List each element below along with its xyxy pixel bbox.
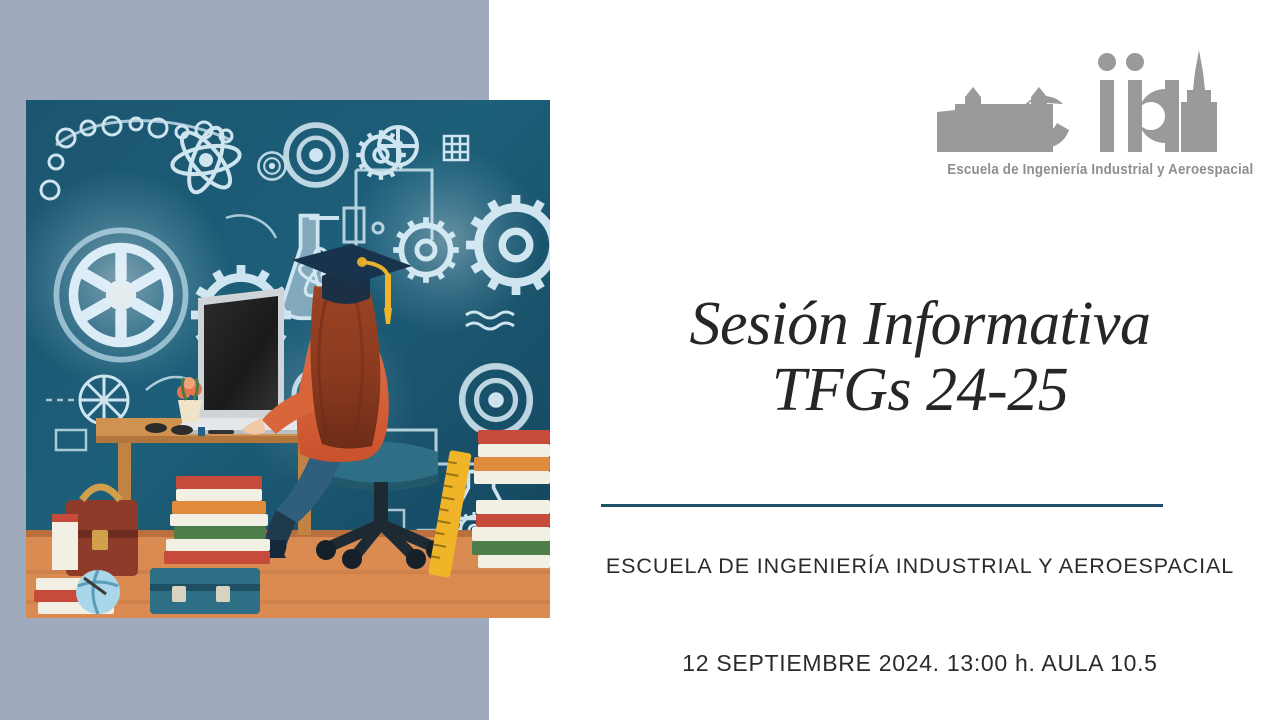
title-line-2: TFGs 24-25 (560, 358, 1280, 424)
illustration-image (26, 100, 550, 618)
globe (76, 570, 120, 614)
event-details: 12 SEPTIEMBRE 2024. 13:00 h. AULA 10.5 (570, 650, 1270, 677)
logo-tagline: Escuela de Ingeniería Industrial y Aeroe… (947, 162, 1228, 178)
eiia-logo-mark (935, 42, 1240, 160)
content-column: Escuela de Ingeniería Industrial y Aeroe… (560, 0, 1280, 720)
title-line-1: Sesión Informativa (560, 292, 1280, 358)
eiia-logo: Escuela de Ingeniería Industrial y Aeroe… (935, 42, 1240, 192)
presentation-slide: Escuela de Ingeniería Industrial y Aeroe… (0, 0, 1280, 720)
illustration-svg (26, 100, 550, 618)
page-title: Sesión Informativa TFGs 24-25 (560, 292, 1280, 423)
divider-rule (601, 504, 1163, 507)
organization-subtitle: ESCUELA DE INGENIERÍA INDUSTRIAL Y AEROE… (570, 552, 1270, 582)
